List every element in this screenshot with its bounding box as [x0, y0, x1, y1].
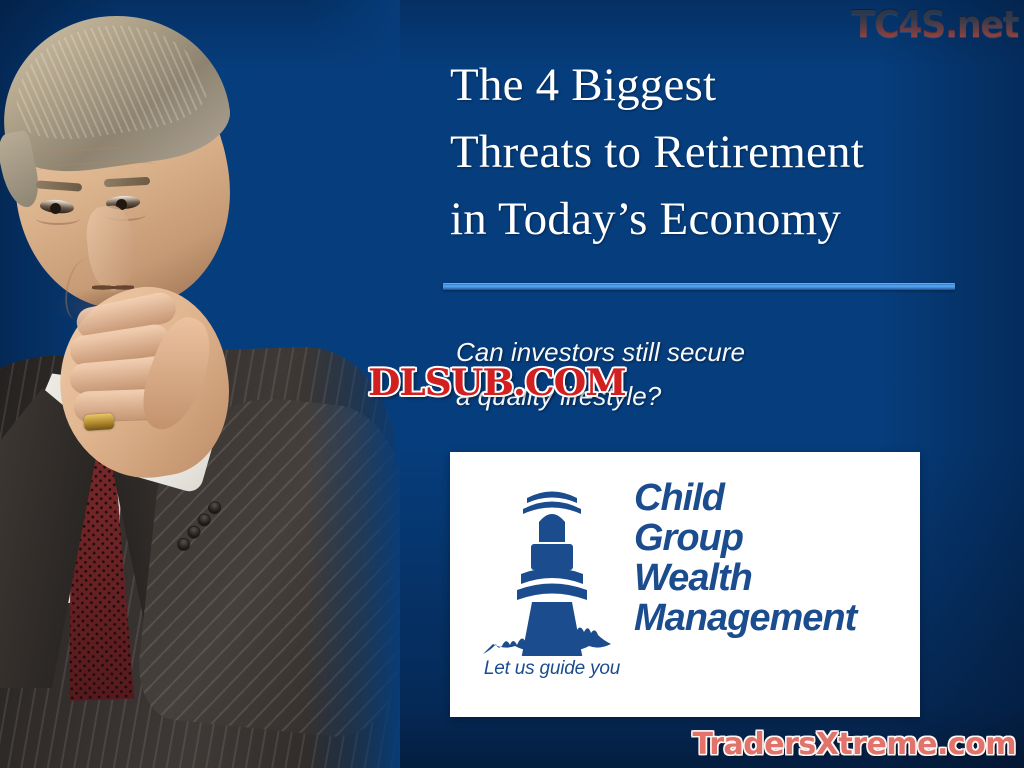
- logo-content: Let us guide you Child Group Wealth Mana…: [450, 452, 920, 717]
- logo-card: Let us guide you Child Group Wealth Mana…: [450, 452, 920, 717]
- watermark-tradersxtreme: TradersXtreme.com: [693, 727, 1016, 762]
- logo-word-2: Group: [634, 518, 856, 558]
- logo-word-4: Management: [634, 598, 856, 638]
- lighthouse-icon: [477, 478, 627, 656]
- watermark-tc4s: TC4S.net: [851, 2, 1018, 46]
- watermark-dlsub: DLSUB.COM: [368, 362, 626, 404]
- title-line-3: in Today’s Economy: [450, 186, 980, 253]
- logo-word-3: Wealth: [634, 558, 856, 598]
- logo-wordmark: Child Group Wealth Management: [634, 478, 856, 638]
- title-line-2: Threats to Retirement: [450, 119, 980, 186]
- logo-tagline: Let us guide you: [484, 658, 620, 680]
- logo-word-1: Child: [634, 478, 856, 518]
- businessman-photo: [0, 0, 400, 768]
- title-divider: [443, 283, 955, 290]
- presentation-slide: The 4 Biggest Threats to Retirement in T…: [0, 0, 1024, 768]
- title-line-1: The 4 Biggest: [450, 52, 980, 119]
- slide-title: The 4 Biggest Threats to Retirement in T…: [450, 52, 980, 253]
- logo-mark: Let us guide you: [476, 478, 628, 680]
- wedding-ring: [83, 413, 114, 431]
- under-eye-line: [36, 212, 80, 225]
